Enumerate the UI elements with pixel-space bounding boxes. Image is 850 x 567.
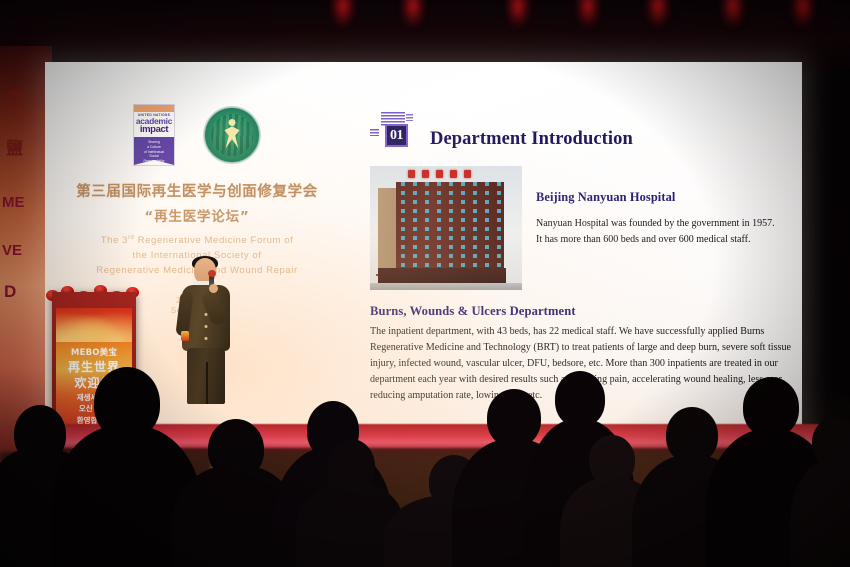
conference-subtitle-cn: “再生医学论坛” bbox=[63, 205, 331, 225]
rooftop-char bbox=[436, 170, 443, 178]
warm-ambient-glow bbox=[0, 367, 850, 567]
microphone-head-icon bbox=[208, 270, 216, 277]
section-heading: Department Introduction bbox=[430, 130, 633, 153]
ceiling-light-icon bbox=[645, 0, 671, 28]
society-emblem-icon bbox=[203, 106, 261, 164]
rooftop-char bbox=[464, 170, 471, 178]
ceiling-light-icon bbox=[720, 0, 746, 28]
hospital-body: Nanyuan Hospital was founded by the gove… bbox=[536, 216, 776, 248]
wall-banner-fragment-2: VE bbox=[2, 242, 22, 259]
badge-stripe-block-tiny bbox=[406, 114, 413, 121]
hospital-title: Beijing Nanyuan Hospital bbox=[536, 190, 776, 205]
section-heading-row: 01 Department Introduction bbox=[370, 110, 790, 152]
conference-title-en-l1: The 3 bbox=[101, 235, 128, 246]
podium-flame-graphic bbox=[56, 308, 132, 342]
rooftop-char bbox=[408, 170, 415, 178]
badge-stripe-block-small bbox=[370, 129, 379, 136]
rooftop-char bbox=[450, 170, 457, 178]
emblem-ring bbox=[204, 107, 260, 163]
ceiling-light-icon bbox=[790, 0, 816, 28]
photo-ground bbox=[370, 283, 522, 290]
rooftop-char bbox=[422, 170, 429, 178]
section-badge-art: 01 bbox=[370, 112, 422, 152]
hospital-text-block: Beijing Nanyuan Hospital Nanyuan Hospita… bbox=[536, 166, 776, 290]
ceiling-light-icon bbox=[505, 0, 531, 28]
logo-row: UNITED NATIONS academic impact Sharing a… bbox=[63, 100, 331, 170]
podium-brand: MEBO美宝 bbox=[56, 346, 132, 358]
building-main-block bbox=[396, 182, 504, 274]
wall-banner-fragment-1: ME bbox=[2, 194, 25, 211]
building-windows bbox=[396, 182, 504, 274]
ceiling-light-icon bbox=[330, 0, 356, 28]
logo-top-bar bbox=[134, 105, 174, 112]
conference-title-cn: 第三届国际再生医学与创面修复学会 bbox=[63, 180, 331, 201]
section-number-badge: 01 bbox=[385, 124, 408, 147]
wall-banner-cn-glyph: 盘 bbox=[6, 84, 23, 109]
logo-impact-text: impact bbox=[134, 125, 174, 135]
slide-right-panel: 01 Department Introduction bbox=[370, 110, 790, 404]
wall-banner-fragment-3: D bbox=[4, 282, 16, 302]
department-title: Burns, Wounds & Ulcers Department bbox=[370, 304, 800, 319]
ceiling-light-icon bbox=[400, 0, 426, 28]
conference-photo-scene: 盘 鹽 ME VE D UNITED NATIONS academic impa… bbox=[0, 0, 850, 567]
building-base bbox=[378, 268, 506, 284]
hospital-section: Beijing Nanyuan Hospital Nanyuan Hospita… bbox=[370, 166, 790, 290]
speaker-badge bbox=[181, 331, 189, 341]
un-academic-impact-logo: UNITED NATIONS academic impact Sharing a… bbox=[133, 104, 175, 166]
logo-ribbon-text: Sharing a Culture of Intellectual Social… bbox=[134, 137, 174, 165]
conference-title-en-l1b: Regenerative Medicine Forum of bbox=[134, 235, 293, 246]
wall-banner-cn-glyph: 鹽 bbox=[6, 134, 23, 159]
ceiling-light-icon bbox=[575, 0, 601, 28]
building-rooftop-sign bbox=[408, 170, 471, 178]
speaker-hand bbox=[209, 284, 218, 293]
hospital-building-photo bbox=[370, 166, 522, 290]
